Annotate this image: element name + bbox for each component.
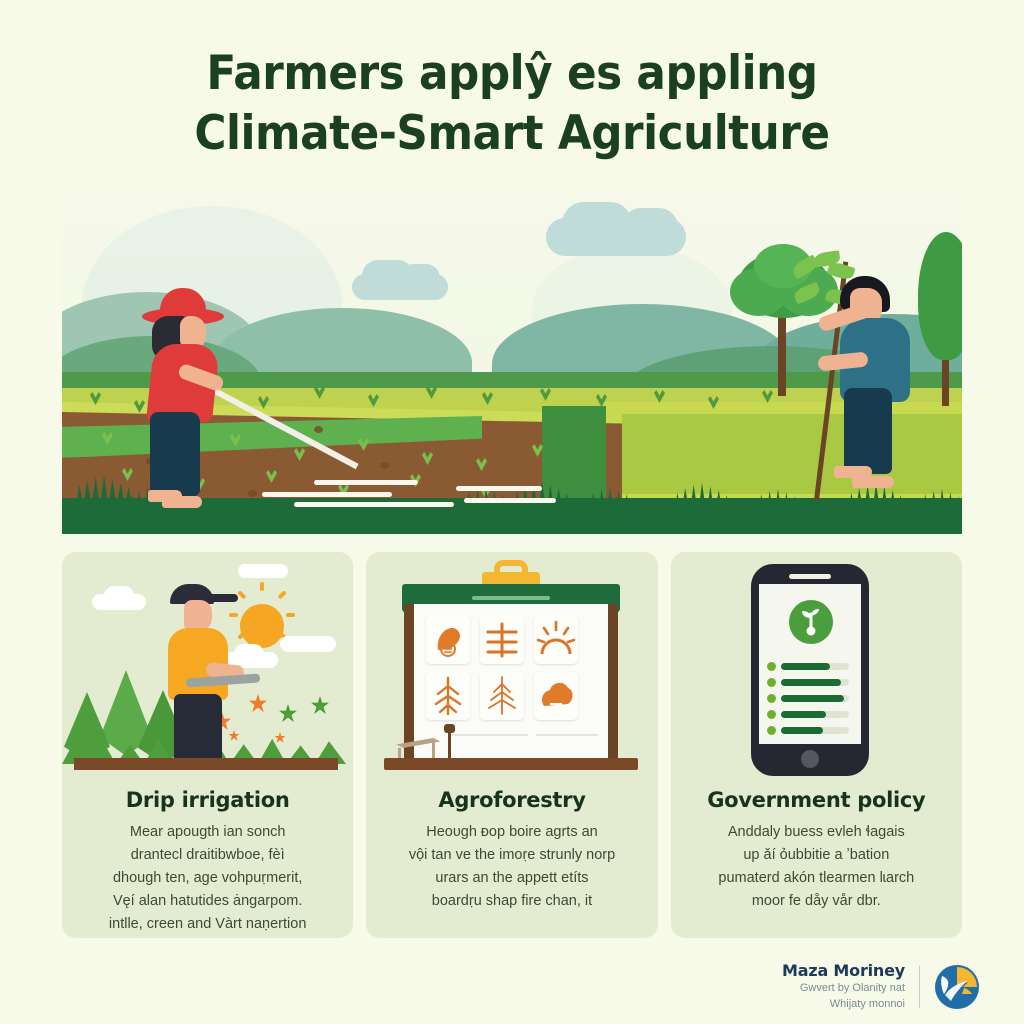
soil-pebble <box>380 462 389 469</box>
list-row-fill <box>781 711 826 718</box>
planter-man-figure <box>762 248 912 500</box>
drip-line <box>464 498 556 503</box>
app-icon-circle[interactable] <box>789 600 833 644</box>
list-row-fill <box>781 663 830 670</box>
board-post-right <box>608 604 618 762</box>
cloud-icon <box>238 564 288 578</box>
card-body-line: up ǎí ỏubbitie a ʼbation <box>685 844 948 867</box>
leaf-icon <box>792 282 821 305</box>
brand-name: Maza Moriney <box>782 961 905 980</box>
list-row-fill <box>781 679 841 686</box>
board-header-line <box>472 596 550 600</box>
sprout-icon <box>789 600 833 644</box>
card-body-line: Anddaly buess evleh ɬagais <box>685 821 948 844</box>
drip-line <box>262 492 392 497</box>
drip-line <box>314 480 418 485</box>
title-line-1: Farmers applŷ es appling <box>92 44 933 104</box>
sun-ray <box>260 582 264 591</box>
card-body-line: pumaterd akón tlearmen lɩarch <box>685 867 948 890</box>
board-tile[interactable] <box>426 616 470 664</box>
tree-canopy-column <box>918 232 962 360</box>
card-body-line: intlle, creen and Vàrt naṇertion <box>76 913 339 936</box>
sunrise-icon <box>534 616 578 664</box>
card-title: Government policy <box>685 788 948 812</box>
brand-subtitle-1: Gwvert by Olanity nat <box>782 980 905 996</box>
soil-pebble <box>314 426 323 433</box>
list-bullet <box>767 662 776 671</box>
sun-ray <box>286 613 295 617</box>
board-tile[interactable] <box>480 672 524 720</box>
card-art-drip-irrigation <box>62 552 353 784</box>
foot <box>162 496 202 508</box>
brand-subtitle-2: Whijaty monnoi <box>782 996 905 1012</box>
card-text-government-policy: Government policy Anddaly buess evleh ɬa… <box>671 784 962 913</box>
cloud-shape-icon <box>534 672 578 720</box>
title-line-2: Climate-Smart Agriculture <box>92 104 933 164</box>
foot <box>852 476 894 488</box>
board-tile[interactable] <box>480 616 524 664</box>
cloud-icon <box>400 264 440 292</box>
card-body-line: Vęí alan hatutides ȧngarpom. <box>76 890 339 913</box>
cloud-icon <box>280 636 336 652</box>
brand-logo <box>934 964 980 1010</box>
feature-cards: Drip irrigation Mear apougth ian sonch d… <box>62 552 962 938</box>
list-bullet <box>767 694 776 703</box>
card-title: Agroforestry <box>380 788 643 812</box>
board-tile[interactable] <box>534 616 578 664</box>
card-agroforestry[interactable]: Agroforestry Heoυgh ᴆop boire agrts an v… <box>366 552 657 938</box>
board-tile[interactable] <box>534 672 578 720</box>
card-body: Heoυgh ᴆop boire agrts an vội tan ve the… <box>380 821 643 913</box>
card-body-line: vội tan ve the imoṛe strunly norp <box>380 844 643 867</box>
card-body: Anddaly buess evleh ɬagais up ǎí ỏubbiti… <box>685 821 948 913</box>
phone-home-button[interactable] <box>801 750 819 768</box>
card-title: Drip irrigation <box>76 788 339 812</box>
trousers <box>844 388 892 474</box>
card-body-line: moor fe dåy vår dbr. <box>685 890 948 913</box>
card-text-agroforestry: Agroforestry Heoυgh ᴆop boire agrts an v… <box>366 784 657 913</box>
cloud-icon <box>104 586 134 606</box>
board-base <box>384 758 638 770</box>
card-body-line: urars an the appett etíts <box>380 867 643 890</box>
page-title: Farmers applŷ es appling Climate-Smart A… <box>0 44 1024 164</box>
card-body-line: boardṛu shap fire chan, it <box>380 890 643 913</box>
card-body-line: Heoυgh ᴆop boire agrts an <box>380 821 643 844</box>
soil-pebble <box>248 490 257 497</box>
tree-icon <box>426 672 470 720</box>
infographic-page: Farmers applŷ es appling Climate-Smart A… <box>0 0 1024 1024</box>
board-post-left <box>404 604 414 762</box>
board-tile[interactable] <box>426 672 470 720</box>
card-art-agroforestry <box>366 552 657 784</box>
cap-bill <box>208 594 238 602</box>
footer-branding: Maza Moriney Gwvert by Olanity nat Whija… <box>782 961 980 1012</box>
bird-icon <box>426 616 470 664</box>
pine-tree-icon <box>480 672 524 720</box>
list-row-fill <box>781 695 844 702</box>
board-divider <box>536 734 598 736</box>
card-art-government-policy <box>671 552 962 784</box>
lamp-head <box>444 724 455 733</box>
list-bullet <box>767 710 776 719</box>
card-body-line: Mear apougth ian sonch <box>76 821 339 844</box>
drip-line <box>456 486 542 491</box>
drip-line <box>294 502 454 507</box>
farmer-woman-figure <box>124 272 244 502</box>
ground-strip <box>74 758 338 770</box>
footer-divider <box>919 966 920 1008</box>
lamp-post <box>448 730 451 760</box>
card-text-drip-irrigation: Drip irrigation Mear apougth ian sonch d… <box>62 784 353 936</box>
footer-text: Maza Moriney Gwvert by Olanity nat Whija… <box>782 961 905 1012</box>
card-body-line: drantecl draitibwboe, fèì <box>76 844 339 867</box>
phone-speaker <box>789 574 831 579</box>
cloud-icon <box>234 644 264 664</box>
board-divider <box>450 734 528 736</box>
list-row-fill <box>781 727 823 734</box>
sun-hat-crown <box>160 288 206 316</box>
list-bullet <box>767 678 776 687</box>
list-bullet <box>767 726 776 735</box>
card-drip-irrigation[interactable]: Drip irrigation Mear apougth ian sonch d… <box>62 552 353 938</box>
cloud-icon <box>622 208 678 246</box>
crop-rows-icon <box>480 616 524 664</box>
hero-illustration <box>62 196 962 534</box>
card-body: Mear apougth ian sonch drantecl draitibw… <box>76 821 339 936</box>
card-government-policy[interactable]: Government policy Anddaly buess evleh ɬa… <box>671 552 962 938</box>
trousers <box>150 412 200 496</box>
card-body-line: dhough ten, age vohpuṛmerit, <box>76 867 339 890</box>
sun-ray <box>229 613 238 617</box>
trousers <box>174 694 222 766</box>
maza-moriney-logo-icon <box>934 964 980 1010</box>
